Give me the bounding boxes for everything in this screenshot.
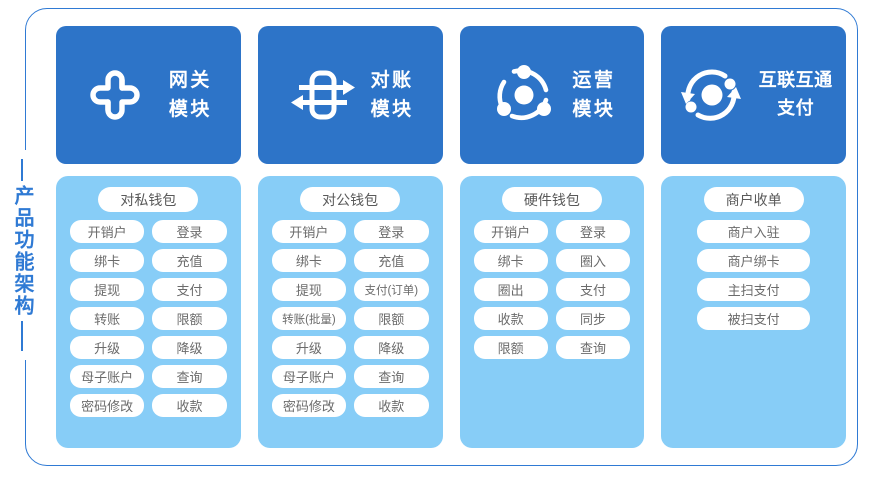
feature-pill[interactable]: 密码修改 (272, 394, 346, 417)
module-header-title: 互联互通 支付 (759, 67, 833, 123)
circular-exchange-icon (675, 59, 747, 131)
module-header-reconciliation[interactable]: 对账 模块 (258, 26, 443, 164)
panel-title: 商户收单 (704, 187, 804, 212)
feature-pill[interactable]: 支付(订单) (354, 278, 428, 301)
feature-pill[interactable]: 转账(批量) (272, 307, 346, 330)
feature-pill[interactable]: 开销户 (272, 220, 346, 243)
feature-pill[interactable]: 开销户 (70, 220, 144, 243)
panel-title: 对私钱包 (98, 187, 198, 212)
module-column-reconciliation: 对账 模块 对公钱包 开销户 登录 绑卡 充值 提现 支付(订单) 转账(批量)… (258, 26, 443, 448)
feature-pill[interactable]: 充值 (354, 249, 428, 272)
network-hub-icon (488, 59, 560, 131)
feature-pill[interactable]: 降级 (152, 336, 226, 359)
module-panel-private-wallet: 对私钱包 开销户 登录 绑卡 充值 提现 支付 转账 限额 升级 降级 母子账户… (56, 176, 241, 448)
feature-pill-grid: 商户入驻 商户绑卡 主扫支付 被扫支付 (697, 220, 810, 330)
feature-pill[interactable]: 绑卡 (272, 249, 346, 272)
feature-pill[interactable]: 母子账户 (70, 365, 144, 388)
feature-pill-grid: 开销户 登录 绑卡 充值 提现 支付 转账 限额 升级 降级 母子账户 查询 密… (70, 220, 227, 417)
feature-pill[interactable]: 圈入 (556, 249, 630, 272)
module-column-operations: 运营 模块 硬件钱包 开销户 登录 绑卡 圈入 圈出 支付 收款 同步 限额 查… (460, 26, 645, 448)
feature-pill-grid: 开销户 登录 绑卡 圈入 圈出 支付 收款 同步 限额 查询 (474, 220, 631, 359)
side-label-product-architecture: 产品功能架构 (0, 150, 44, 360)
module-header-interconnect-payment[interactable]: 互联互通 支付 (661, 26, 846, 164)
interlocking-cross-icon (85, 59, 157, 131)
feature-pill[interactable]: 转账 (70, 307, 144, 330)
feature-pill[interactable]: 母子账户 (272, 365, 346, 388)
feature-pill[interactable]: 密码修改 (70, 394, 144, 417)
feature-pill[interactable]: 充值 (152, 249, 226, 272)
module-header-title: 对账 模块 (371, 66, 414, 125)
feature-pill[interactable]: 商户绑卡 (697, 249, 810, 272)
side-label-rule-bottom (21, 321, 23, 351)
module-column-interconnect-payment: 互联互通 支付 商户收单 商户入驻 商户绑卡 主扫支付 被扫支付 (661, 26, 846, 448)
feature-pill[interactable]: 限额 (152, 307, 226, 330)
side-label-text: 产品功能架构 (12, 185, 32, 317)
module-header-title: 运营 模块 (572, 66, 615, 125)
module-columns: 网关 模块 对私钱包 开销户 登录 绑卡 充值 提现 支付 转账 限额 升级 降… (56, 26, 846, 448)
feature-pill[interactable]: 收款 (152, 394, 226, 417)
feature-pill[interactable]: 收款 (474, 307, 548, 330)
feature-pill[interactable]: 限额 (474, 336, 548, 359)
module-header-operations[interactable]: 运营 模块 (460, 26, 645, 164)
feature-pill[interactable]: 升级 (70, 336, 144, 359)
feature-pill[interactable]: 圈出 (474, 278, 548, 301)
feature-pill[interactable]: 登录 (354, 220, 428, 243)
feature-pill[interactable]: 查询 (354, 365, 428, 388)
feature-pill[interactable]: 提现 (70, 278, 144, 301)
feature-pill[interactable]: 升级 (272, 336, 346, 359)
feature-pill[interactable]: 查询 (556, 336, 630, 359)
feature-pill[interactable]: 登录 (152, 220, 226, 243)
feature-pill[interactable]: 降级 (354, 336, 428, 359)
feature-pill[interactable]: 绑卡 (474, 249, 548, 272)
feature-pill[interactable]: 主扫支付 (697, 278, 810, 301)
feature-pill[interactable]: 支付 (152, 278, 226, 301)
feature-pill[interactable]: 开销户 (474, 220, 548, 243)
feature-pill[interactable]: 同步 (556, 307, 630, 330)
feature-pill[interactable]: 登录 (556, 220, 630, 243)
module-header-title: 网关 模块 (169, 66, 212, 125)
reconciliation-arrows-icon (287, 59, 359, 131)
feature-pill[interactable]: 商户入驻 (697, 220, 810, 243)
feature-pill[interactable]: 支付 (556, 278, 630, 301)
module-column-gateway: 网关 模块 对私钱包 开销户 登录 绑卡 充值 提现 支付 转账 限额 升级 降… (56, 26, 241, 448)
feature-pill[interactable]: 提现 (272, 278, 346, 301)
module-panel-hardware-wallet: 硬件钱包 开销户 登录 绑卡 圈入 圈出 支付 收款 同步 限额 查询 (460, 176, 645, 448)
side-label-rule-top (21, 159, 23, 181)
panel-title: 硬件钱包 (502, 187, 602, 212)
product-architecture-diagram: 产品功能架构 网关 模块 对私钱包 (0, 0, 870, 481)
feature-pill[interactable]: 查询 (152, 365, 226, 388)
module-panel-merchant-acquiring: 商户收单 商户入驻 商户绑卡 主扫支付 被扫支付 (661, 176, 846, 448)
feature-pill[interactable]: 被扫支付 (697, 307, 810, 330)
feature-pill[interactable]: 限额 (354, 307, 428, 330)
feature-pill[interactable]: 绑卡 (70, 249, 144, 272)
module-panel-corporate-wallet: 对公钱包 开销户 登录 绑卡 充值 提现 支付(订单) 转账(批量) 限额 升级… (258, 176, 443, 448)
module-header-gateway[interactable]: 网关 模块 (56, 26, 241, 164)
feature-pill-grid: 开销户 登录 绑卡 充值 提现 支付(订单) 转账(批量) 限额 升级 降级 母… (272, 220, 429, 417)
panel-title: 对公钱包 (300, 187, 400, 212)
feature-pill[interactable]: 收款 (354, 394, 428, 417)
